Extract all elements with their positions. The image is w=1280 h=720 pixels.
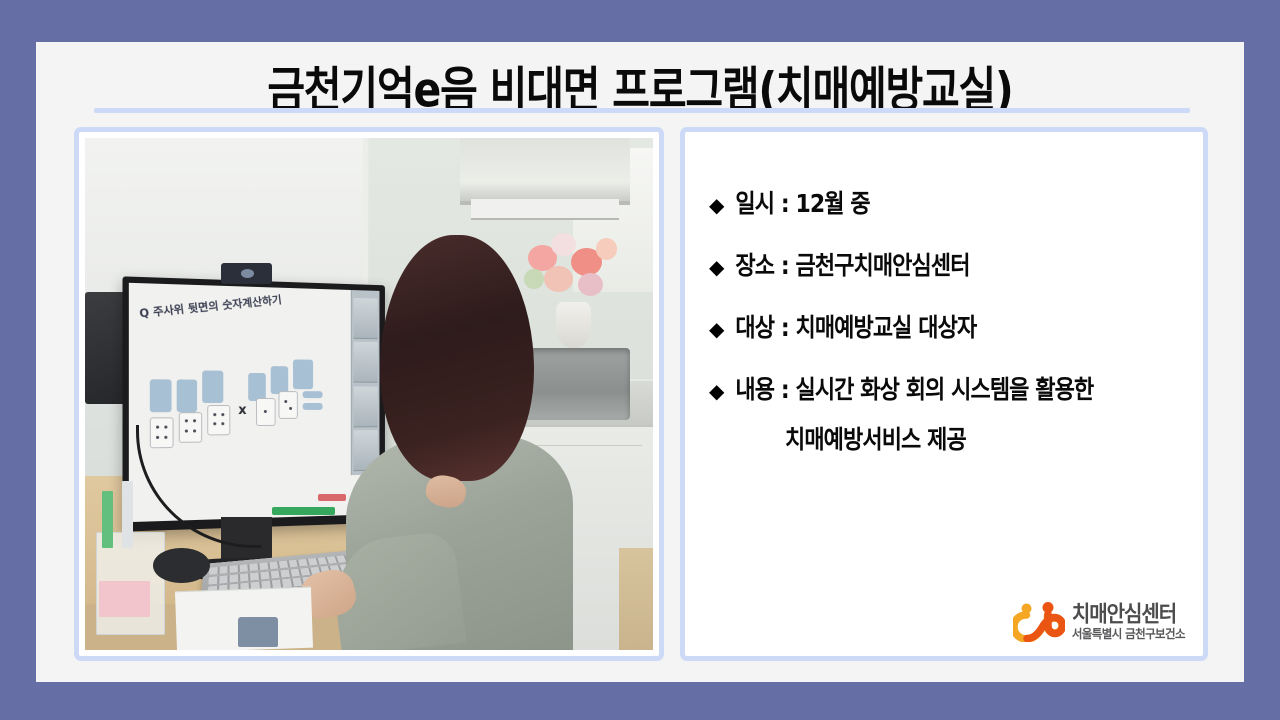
list-item: ◆ 내용 : 실시간 화상 회의 시스템을 활용한 <box>709 376 1189 406</box>
list-item: ◆ 일시 : 12월 중 <box>709 190 1189 220</box>
photo-vase <box>556 302 590 348</box>
photo-pen-green <box>102 491 113 547</box>
photo-webcam <box>221 263 272 283</box>
photo-cup <box>238 617 278 648</box>
title-divider <box>94 108 1190 113</box>
dementia-care-center-logo-icon <box>1013 602 1065 642</box>
photo-flowers <box>522 230 619 312</box>
logo-subtitle: 서울특별시 금천구보건소 <box>1072 628 1185 640</box>
list-item: ◆ 장소 : 금천구치매안심센터 <box>709 252 1189 282</box>
photo-green-marker <box>272 507 334 515</box>
photo-pen-white <box>122 481 133 548</box>
photo-shelf <box>471 199 619 219</box>
photo-cables <box>153 548 210 584</box>
detail-date: 일시 : 12월 중 <box>735 188 869 222</box>
detail-content: 내용 : 실시간 화상 회의 시스템을 활용한 <box>735 374 1093 408</box>
slide-root: 금천기억e음 비대면 프로그램(치매예방교실) <box>0 0 1280 720</box>
program-photo: Q 주사위 뒷면의 숫자계산하기 <box>85 138 653 650</box>
content-panels: Q 주사위 뒷면의 숫자계산하기 <box>74 127 1208 661</box>
page-title-area: 금천기억e음 비대면 프로그램(치매예방교실) <box>36 48 1244 132</box>
diamond-bullet-icon: ◆ <box>709 314 724 344</box>
photo-pink-item <box>99 581 150 617</box>
details-list: ◆ 일시 : 12월 중 ◆ 장소 : 금천구치매안심센터 ◆ 대상 : 치매예… <box>709 190 1189 456</box>
logo-name: 치매안심센터 <box>1072 603 1185 625</box>
list-item: ◆ 대상 : 치매예방교실 대상자 <box>709 314 1189 344</box>
slide-card: 금천기억e음 비대면 프로그램(치매예방교실) <box>36 42 1244 682</box>
diamond-bullet-icon: ◆ <box>709 252 724 282</box>
details-panel: ◆ 일시 : 12월 중 ◆ 장소 : 금천구치매안심센터 ◆ 대상 : 치매예… <box>680 127 1208 661</box>
photo-video-participants <box>351 291 379 476</box>
photo-panel: Q 주사위 뒷면의 숫자계산하기 <box>74 127 664 661</box>
detail-target: 대상 : 치매예방교실 대상자 <box>735 312 976 346</box>
detail-location: 장소 : 금천구치매안심센터 <box>735 250 969 284</box>
photo-person-hair <box>380 235 533 481</box>
photo-quiz-text: Q 주사위 뒷면의 숫자계산하기 <box>138 292 282 322</box>
diamond-bullet-icon: ◆ <box>709 376 724 406</box>
page-title: 금천기억e음 비대면 프로그램(치매예방교실) <box>267 66 1012 114</box>
detail-content-continuation: 치매예방서비스 제공 <box>785 424 1189 458</box>
organization-logo: 치매안심센터 서울특별시 금천구보건소 <box>1013 602 1185 642</box>
photo-upper-cabinet <box>460 138 630 205</box>
logo-text: 치매안심센터 서울특별시 금천구보건소 <box>1072 604 1185 641</box>
diamond-bullet-icon: ◆ <box>709 190 724 220</box>
photo-red-marker <box>318 494 346 501</box>
photo-floor <box>619 548 653 650</box>
